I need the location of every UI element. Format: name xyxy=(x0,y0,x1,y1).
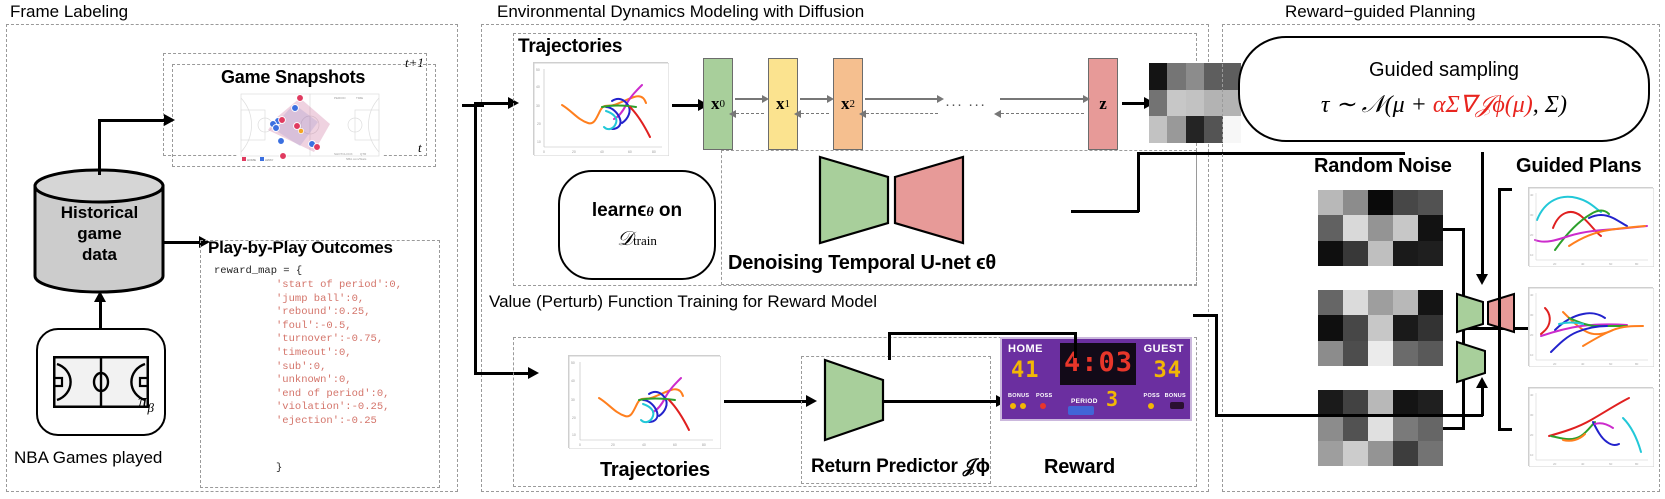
noise-cell xyxy=(1368,241,1393,266)
scoreboard-guest-score: 34 xyxy=(1154,358,1183,383)
timestep-t-label: t xyxy=(418,140,422,156)
sampling-to-unet-arrow xyxy=(1481,152,1484,276)
svg-text:80: 80 xyxy=(1635,462,1639,466)
scoreboard-poss-label-right: POSS xyxy=(1144,393,1160,399)
svg-text:10: 10 xyxy=(1530,353,1534,357)
svg-text:30: 30 xyxy=(1530,313,1534,317)
noise-cell xyxy=(1204,116,1222,143)
svg-text:10: 10 xyxy=(537,140,541,144)
svg-text:20: 20 xyxy=(1553,462,1557,466)
noise-cell xyxy=(1318,315,1343,340)
noise-cell xyxy=(1393,341,1418,366)
reverse-arrow-1 xyxy=(801,113,829,114)
noise-cell xyxy=(1368,215,1393,240)
historical-game-database: Historical game data xyxy=(32,166,167,296)
svg-text:60: 60 xyxy=(1609,262,1613,266)
behavior-policy-symbol: πβ xyxy=(138,391,154,416)
scoreboard-period-label: PERIOD xyxy=(1071,398,1098,405)
svg-text:10: 10 xyxy=(1530,453,1534,457)
mid-panel-title: Environmental Dynamics Modeling with Dif… xyxy=(497,2,864,22)
noise-cell xyxy=(1343,415,1368,440)
noise-cell xyxy=(1343,241,1368,266)
unet-decoder-shape xyxy=(893,155,965,250)
noise-cell xyxy=(1393,241,1418,266)
svg-text:QTR: QTR xyxy=(360,152,367,156)
svg-text:50: 50 xyxy=(536,68,540,72)
trajectory-plot-top: 5040302010 020406080 xyxy=(533,62,668,155)
formula-part-2: , Σ) xyxy=(1533,92,1567,118)
noise-cell xyxy=(1318,341,1343,366)
svg-text:40: 40 xyxy=(642,443,646,447)
plan-noise-grid-1 xyxy=(1318,190,1443,266)
svg-text:30: 30 xyxy=(1530,213,1534,217)
forward-arrow-2 xyxy=(865,98,938,100)
noise-cell xyxy=(1393,441,1418,466)
svg-text:10: 10 xyxy=(572,433,576,437)
noise-cell xyxy=(1368,441,1393,466)
noise-cell xyxy=(1418,241,1443,266)
learn-epsilon-line2: 𝒟train xyxy=(617,228,657,251)
svg-text:TIME: TIME xyxy=(356,96,363,100)
predictor-to-reward-arrow xyxy=(884,400,998,403)
scoreboard-bonus-label-right: BONUS xyxy=(1165,393,1186,399)
svg-text:80: 80 xyxy=(1635,262,1639,266)
reward-feedback-v xyxy=(1074,332,1077,358)
svg-text:40: 40 xyxy=(1581,462,1585,466)
diffusion-box-x1: x1 xyxy=(768,58,798,150)
svg-text:40: 40 xyxy=(1530,293,1534,297)
svg-text:20: 20 xyxy=(1553,362,1557,366)
formula-part-1: τ ∼ 𝒩(μ + xyxy=(1321,92,1433,118)
noise-cell xyxy=(1418,390,1443,415)
game-snapshots-label: Game Snapshots xyxy=(221,67,365,88)
noise-cell xyxy=(1318,241,1343,266)
guided-plan-plot-2: 4030201020406080 xyxy=(1528,287,1653,366)
svg-text:40: 40 xyxy=(1530,193,1534,197)
traj-to-x0-arrow xyxy=(672,104,700,107)
svg-text:40: 40 xyxy=(1581,362,1585,366)
svg-text:20: 20 xyxy=(572,416,576,420)
scoreboard-poss-dot xyxy=(1040,403,1046,409)
svg-text:20: 20 xyxy=(1530,333,1534,337)
noise-cell xyxy=(1393,215,1418,240)
return-predictor-shape xyxy=(823,358,885,447)
reverse-arrow-3 xyxy=(1001,113,1084,114)
planning-encoder-shape xyxy=(1455,292,1485,339)
return-predictor-label: Return Predictor 𝒥ϕ xyxy=(811,456,990,478)
svg-text:60: 60 xyxy=(1609,462,1613,466)
noise-cell xyxy=(1149,90,1167,117)
svg-text:40: 40 xyxy=(536,85,540,89)
basketball-court-icon xyxy=(53,356,149,408)
db-line-2: game xyxy=(32,223,167,244)
svg-text:SHOTCLOCK: SHOTCLOCK xyxy=(334,152,353,156)
noise-cell xyxy=(1318,390,1343,415)
svg-text:60: 60 xyxy=(628,150,632,154)
plan-noise-grid-2 xyxy=(1318,290,1443,366)
trajectory-plot-bottom: 5040302010 020406080 xyxy=(568,355,720,448)
noise-cell xyxy=(1318,290,1343,315)
svg-text:30: 30 xyxy=(571,398,575,402)
scoreboard-guest-label: GUEST xyxy=(1144,343,1184,355)
learn-epsilon-box: learnϵθ on 𝒟train xyxy=(558,170,716,280)
reward-feedback-v2 xyxy=(888,332,891,360)
noise-cell xyxy=(1204,90,1222,117)
svg-text:PERIOD: PERIOD xyxy=(334,96,346,100)
svg-text:20: 20 xyxy=(1530,433,1534,437)
svg-text:10: 10 xyxy=(1530,253,1534,257)
noise-cell xyxy=(1393,315,1418,340)
scoreboard-bonus-indicator-right xyxy=(1170,402,1184,409)
svg-text:20: 20 xyxy=(537,122,541,126)
noise-cell xyxy=(1167,63,1185,90)
noise-cell xyxy=(1343,190,1368,215)
noise-cell xyxy=(1343,290,1368,315)
reward-map-entries: 'start of period':0, 'jump ball':0, 'reb… xyxy=(276,279,402,429)
reward-map-head: reward_map = { xyxy=(214,265,302,279)
svg-text:60: 60 xyxy=(1609,362,1613,366)
db-line-3: data xyxy=(32,244,167,265)
value-section-title: Value (Perturb) Function Training for Re… xyxy=(489,292,877,312)
noise-cell xyxy=(1393,290,1418,315)
noise-cell xyxy=(1343,341,1368,366)
svg-text:20: 20 xyxy=(1553,262,1557,266)
diffusion-ellipsis: ··· ··· xyxy=(945,96,986,113)
reward-feedback-h xyxy=(888,332,1077,335)
planning-decoder-shape xyxy=(1486,292,1516,339)
svg-text:30: 30 xyxy=(1530,413,1534,417)
noise-cell xyxy=(1418,415,1443,440)
svg-text:20: 20 xyxy=(572,150,576,154)
svg-text:NBA.com/Stats: NBA.com/Stats xyxy=(346,157,367,161)
svg-text:80: 80 xyxy=(1635,362,1639,366)
noise-cell xyxy=(1186,63,1204,90)
scoreboard-home-label: HOME xyxy=(1008,343,1043,355)
scoreboard-bonus-label: BONUS xyxy=(1008,393,1029,399)
noise-cell xyxy=(1368,315,1393,340)
db-to-pbp-arrow xyxy=(163,241,201,244)
guided-plan-plot-3: 4030201020406080 xyxy=(1528,387,1653,466)
guided-plans-label: Guided Plans xyxy=(1516,155,1641,178)
unet-label: Denoising Temporal U-net ϵθ xyxy=(728,252,996,275)
noise-cell xyxy=(1186,90,1204,117)
svg-text:30: 30 xyxy=(536,104,540,108)
db-line-1: Historical xyxy=(32,202,167,223)
scoreboard-home-score: 41 xyxy=(1011,358,1040,383)
reward-to-planning-v xyxy=(1215,314,1218,416)
svg-text:0: 0 xyxy=(579,443,581,447)
left-panel-title: Frame Labeling xyxy=(10,2,128,22)
guided-plan-plot-1: 4030201020406080 xyxy=(1528,187,1653,266)
scoreboard-bonus-dot-1 xyxy=(1010,403,1016,409)
reward-label: Reward xyxy=(1044,456,1115,479)
scoreboard-poss-label: POSS xyxy=(1036,393,1052,399)
noise-cell xyxy=(1418,190,1443,215)
forward-arrow-0 xyxy=(735,98,763,100)
svg-text:AWAY: AWAY xyxy=(265,158,273,162)
noise-cell xyxy=(1149,116,1167,143)
svg-text:0: 0 xyxy=(543,150,545,154)
noise-cell xyxy=(1368,341,1393,366)
noise-cell xyxy=(1418,441,1443,466)
noise-cell xyxy=(1186,116,1204,143)
reward-scoreboard: HOME 41 GUEST 34 4:03 BONUS POSS PERIOD … xyxy=(1000,337,1192,421)
noise-cell xyxy=(1318,441,1343,466)
svg-text:20: 20 xyxy=(611,443,615,447)
nba-games-caption: NBA Games played xyxy=(14,448,162,468)
noise-cell xyxy=(1343,441,1368,466)
noise-cell xyxy=(1368,190,1393,215)
z-to-noise-arrow xyxy=(1122,102,1146,105)
formula-part-red: αΣ∇𝒥ϕ(μ) xyxy=(1433,92,1533,118)
reverse-arrow-0 xyxy=(736,113,764,114)
svg-text:60: 60 xyxy=(673,443,677,447)
noise-cell xyxy=(1343,215,1368,240)
traj-to-predictor-arrow xyxy=(724,400,808,403)
forward-arrow-1 xyxy=(800,98,828,100)
reverse-arrow-2 xyxy=(866,113,938,114)
court-snapshot-image: PERIODTIME SHOTCLOCKQTR NBA.com/Stats HO… xyxy=(238,88,382,163)
noise-cell xyxy=(1167,90,1185,117)
noise-cell xyxy=(1149,63,1167,90)
noise-cell xyxy=(1418,215,1443,240)
noise-cell xyxy=(1418,290,1443,315)
svg-text:50: 50 xyxy=(571,361,575,365)
noise-cell xyxy=(1368,415,1393,440)
unet-out-h1 xyxy=(1071,210,1139,213)
forward-arrow-3 xyxy=(1000,98,1084,100)
reward-to-planning-h xyxy=(1215,414,1483,417)
policy-to-db-arrow xyxy=(99,300,102,328)
db-to-snapshot-vertical xyxy=(98,120,101,175)
reward-to-planning-h2 xyxy=(1193,314,1217,317)
noise-cell xyxy=(1204,63,1222,90)
trajectories-label-top: Trajectories xyxy=(518,36,622,58)
noise-cell xyxy=(1318,215,1343,240)
svg-text:20: 20 xyxy=(1530,233,1534,237)
guided-sampling-box: Guided sampling τ ∼ 𝒩(μ + αΣ∇𝒥ϕ(μ), Σ) xyxy=(1238,36,1650,142)
guided-sampling-title: Guided sampling xyxy=(1369,59,1519,82)
left-to-mid-vertical xyxy=(474,104,477,374)
svg-text:HOME: HOME xyxy=(247,158,256,162)
scoreboard-poss-dot-right xyxy=(1148,403,1154,409)
svg-text:40: 40 xyxy=(600,150,604,154)
unet-out-v xyxy=(1137,152,1140,212)
noise-cell xyxy=(1393,190,1418,215)
reward-map-tail: } xyxy=(276,462,282,476)
learn-epsilon-line1: learnϵθ on xyxy=(592,200,682,222)
noise-cell xyxy=(1318,190,1343,215)
noise-cell xyxy=(1418,341,1443,366)
noise-cell xyxy=(1318,415,1343,440)
noise-cell xyxy=(1368,390,1393,415)
into-traj-top-arrow xyxy=(474,102,510,105)
svg-text:80: 80 xyxy=(702,443,706,447)
noise-cell xyxy=(1418,315,1443,340)
plan-noise-grid-3 xyxy=(1318,390,1443,466)
plans-bracket-vertical xyxy=(1498,188,1501,431)
noise-cell xyxy=(1343,315,1368,340)
play-by-play-label: Play-by-Play Outcomes xyxy=(208,238,393,258)
trajectories-label-bottom: Trajectories xyxy=(600,459,710,482)
scoreboard-logo xyxy=(1068,406,1094,415)
svg-text:80: 80 xyxy=(652,150,656,154)
unet-encoder-shape xyxy=(818,155,890,250)
svg-text:40: 40 xyxy=(1581,262,1585,266)
noise-cell xyxy=(1393,390,1418,415)
noise-cell xyxy=(1368,290,1393,315)
svg-text:40: 40 xyxy=(1530,393,1534,397)
scoreboard-bonus-dot-2 xyxy=(1020,403,1026,409)
random-noise-label: Random Noise xyxy=(1314,155,1452,178)
nba-games-box: πβ xyxy=(36,328,166,436)
diffusion-box-x0: x0 xyxy=(703,58,733,150)
noise-cell xyxy=(1393,415,1418,440)
guided-sampling-formula: τ ∼ 𝒩(μ + αΣ∇𝒥ϕ(μ), Σ) xyxy=(1321,90,1567,119)
right-panel-title: Reward−guided Planning xyxy=(1285,2,1475,22)
diffusion-box-x2: x2 xyxy=(833,58,863,150)
db-to-snapshot-arrow xyxy=(98,119,166,122)
scoreboard-period: 3 xyxy=(1106,387,1119,411)
diffusion-box-z: z xyxy=(1088,58,1118,150)
reward-to-unet-arrow xyxy=(1481,386,1484,416)
noise-cell xyxy=(1343,390,1368,415)
svg-text:40: 40 xyxy=(571,379,575,383)
noise-cell xyxy=(1167,116,1185,143)
